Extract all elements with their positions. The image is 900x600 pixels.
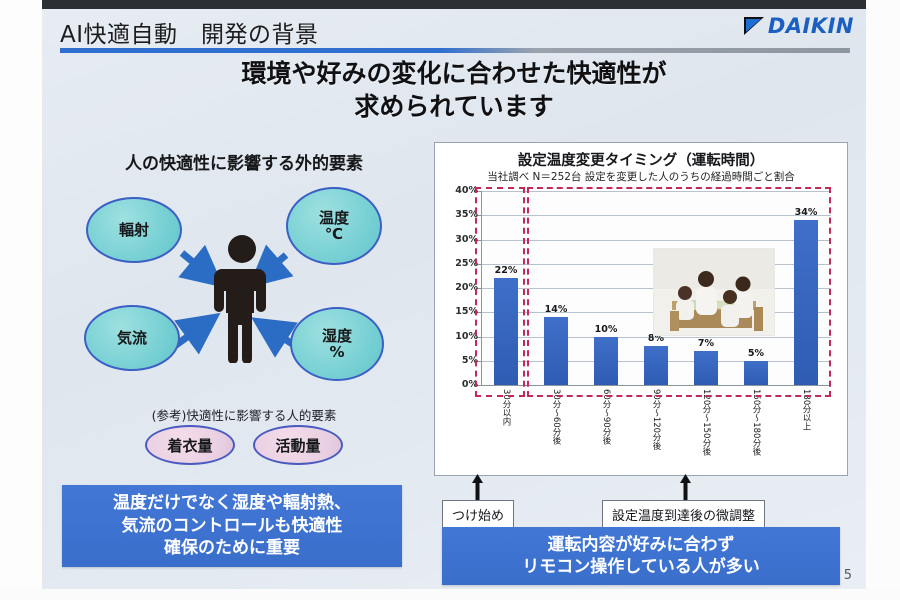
slide: AI快適自動 開発の背景 DAIKIN 環境や好みの変化に合わせた快適性が 求め… <box>0 0 900 600</box>
y-tick-label: 10% <box>438 331 478 342</box>
factor-ellipse-airflow[interactable]: 気流 <box>84 305 180 371</box>
x-tick-label: 60分～90分後 <box>600 389 612 445</box>
factor-label-airflow: 気流 <box>117 330 147 347</box>
chart-title: 設定温度変更タイミング（運転時間） <box>435 149 847 170</box>
y-tick-label: 5% <box>438 355 478 366</box>
reference-label-clothing: 着衣量 <box>167 435 212 456</box>
x-tick-label: 90分～120分後 <box>650 389 662 450</box>
left-callout: 温度だけでなく湿度や輻射熱、 気流のコントロールも快適性 確保のために重要 <box>62 485 402 567</box>
daikin-wordmark: DAIKIN <box>768 14 854 38</box>
factor-label-radiation: 輻射 <box>119 222 149 239</box>
x-tick-label: 150分～180分後 <box>750 389 762 455</box>
factor-label-humidity: 湿度 % <box>322 328 352 361</box>
projection-frame-left <box>0 0 42 600</box>
annotation-arrow-adjust-icon <box>680 474 691 500</box>
title-underline <box>60 48 850 53</box>
left-callout-line-1: 温度だけでなく湿度や輻射熱、 <box>113 492 351 514</box>
projection-frame-right <box>866 0 900 600</box>
x-tick-label: 30分～60分後 <box>550 389 562 445</box>
headline-line-1: 環境や好みの変化に合わせた快適性が <box>42 57 866 90</box>
chart-panel: 設定温度変更タイミング（運転時間） 当社調べ N＝252台 設定を変更した人のう… <box>434 142 848 476</box>
slide-headline: 環境や好みの変化に合わせた快適性が 求められています <box>42 57 866 124</box>
reference-item-clothing[interactable]: 着衣量 <box>145 425 235 465</box>
comfort-factors-diagram: 輻射 温度 ℃ 気流 湿度 % <box>64 177 424 402</box>
y-tick-label: 0% <box>438 379 478 390</box>
daikin-triangle-icon <box>743 16 765 36</box>
left-panel-title: 人の快適性に影響する外的要素 <box>64 149 424 174</box>
projection-frame-top <box>0 0 900 9</box>
y-tick-label: 20% <box>438 282 478 293</box>
daikin-logo: DAIKIN <box>743 14 854 38</box>
annotation-adjust: 設定温度到達後の微調整 <box>602 475 765 529</box>
right-callout: 運転内容が好みに合わず リモコン操作している人が多い <box>442 527 840 585</box>
page-number: 5 <box>844 568 852 583</box>
annotation-label-start: つけ始め <box>442 500 514 529</box>
y-tick-label: 25% <box>438 258 478 269</box>
left-callout-line-3: 確保のために重要 <box>113 537 351 559</box>
x-tick-label: 120分～150分後 <box>700 389 712 455</box>
highlight-box-start <box>475 187 525 397</box>
reference-item-activity[interactable]: 活動量 <box>253 425 343 465</box>
y-tick-label: 40% <box>438 185 478 196</box>
factor-ellipse-humidity[interactable]: 湿度 % <box>290 307 384 381</box>
factor-label-temperature: 温度 ℃ <box>319 210 349 243</box>
reference-title: (参考)快適性に影響する人的要素 <box>64 405 424 424</box>
projection-frame-bottom <box>0 588 900 600</box>
factor-ellipse-temperature[interactable]: 温度 ℃ <box>286 187 382 265</box>
right-callout-line-1: 運転内容が好みに合わず <box>522 534 760 556</box>
family-dining-photo <box>653 248 775 336</box>
annotation-label-adjust: 設定温度到達後の微調整 <box>602 500 765 529</box>
right-callout-line-2: リモコン操作している人が多い <box>522 556 760 578</box>
reference-items: 着衣量 活動量 <box>64 425 424 465</box>
factor-ellipse-radiation[interactable]: 輻射 <box>86 197 182 263</box>
y-tick-label: 15% <box>438 306 478 317</box>
person-silhouette-icon <box>212 233 272 363</box>
reference-label-activity: 活動量 <box>275 435 320 456</box>
y-tick-label: 35% <box>438 209 478 220</box>
headline-line-2: 求められています <box>42 90 866 123</box>
page-title: AI快適自動 開発の背景 <box>60 15 319 49</box>
left-callout-line-2: 気流のコントロールも快適性 <box>113 515 351 537</box>
annotation-arrow-start-icon <box>472 474 483 500</box>
y-tick-label: 30% <box>438 234 478 245</box>
chart-subtitle: 当社調べ N＝252台 設定を変更した人のうちの経過時間ごと割合 <box>435 169 847 184</box>
slide-stage: AI快適自動 開発の背景 DAIKIN 環境や好みの変化に合わせた快適性が 求め… <box>42 9 866 589</box>
annotation-start: つけ始め <box>442 475 514 529</box>
